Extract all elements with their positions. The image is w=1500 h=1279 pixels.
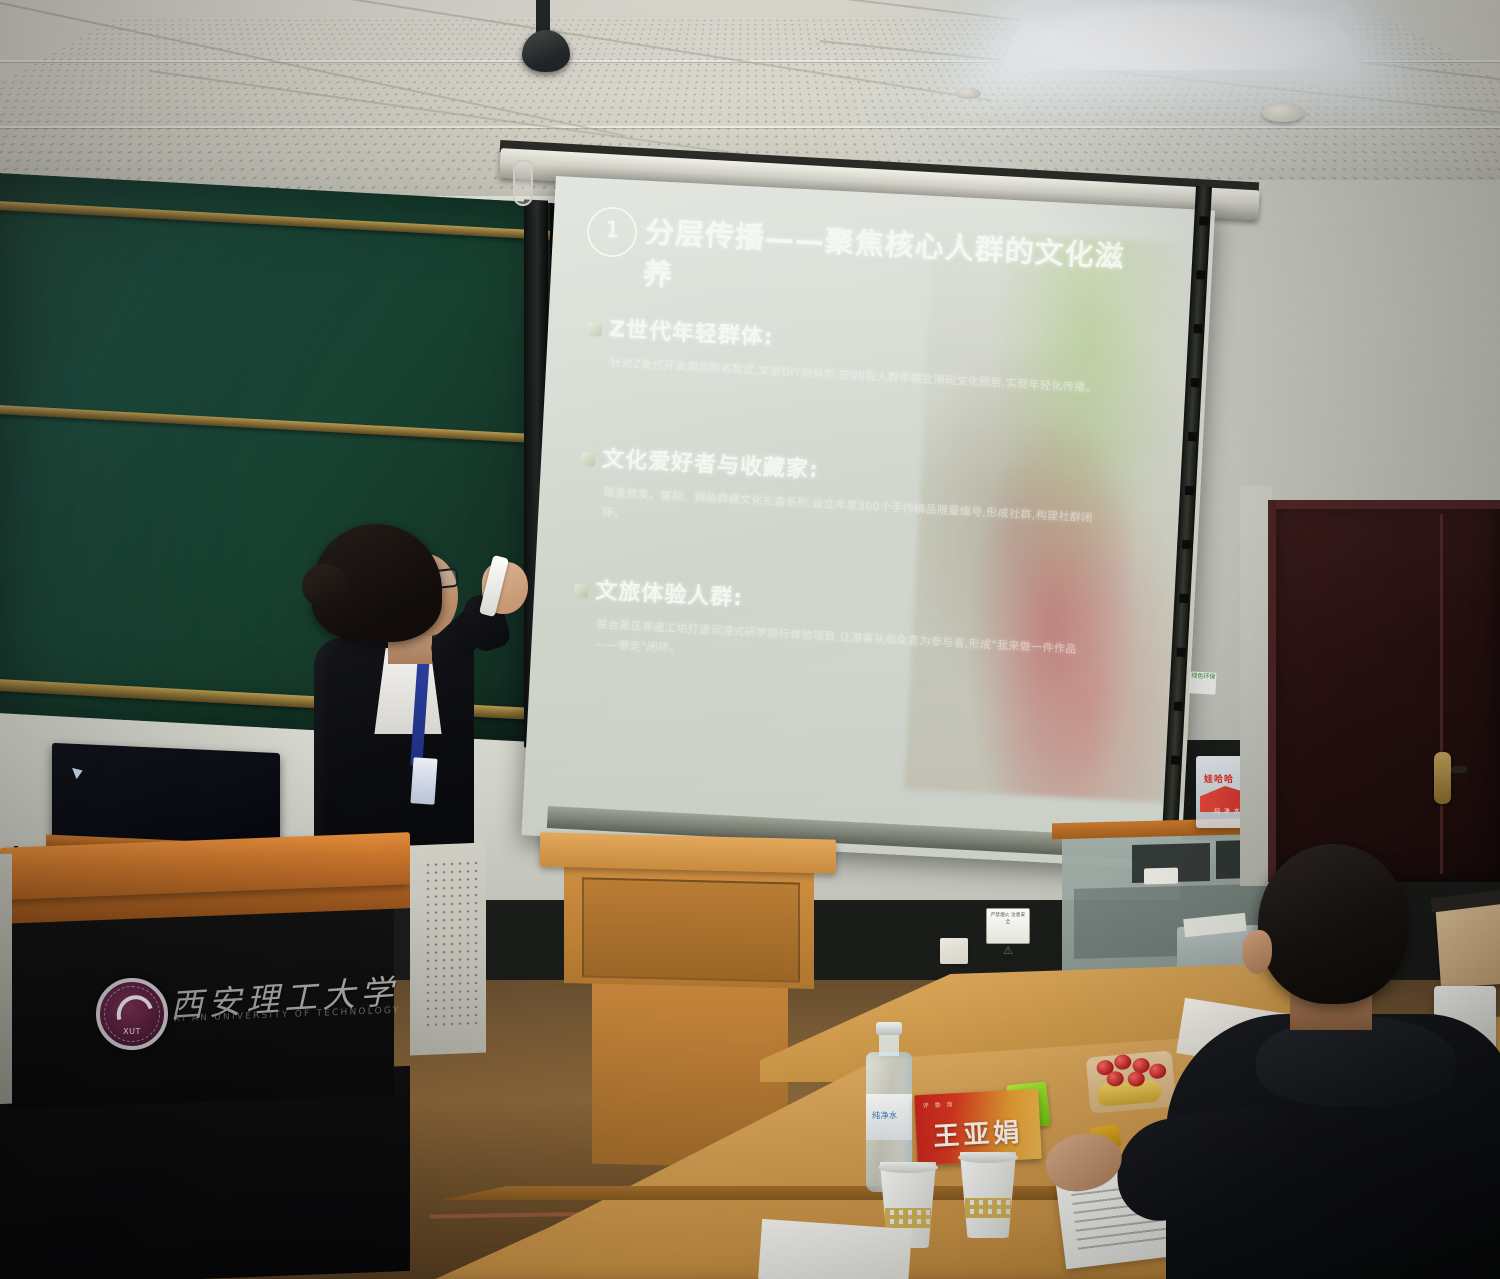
cup-body: [956, 1152, 1020, 1238]
lectern-inner-panel: [582, 877, 800, 982]
cabinet-device: [1144, 868, 1178, 885]
loose-paper: [758, 1219, 912, 1279]
slide-section-2-heading: 文化爱好者与收藏家:: [602, 447, 820, 483]
cup-rim: [878, 1162, 938, 1173]
smoke-detector-icon: [1262, 104, 1304, 122]
lectern-podium: [0, 826, 530, 1279]
water-brand-label: 娃哈哈: [1204, 772, 1234, 785]
door-center-seam: [1440, 514, 1443, 874]
door-top-frame: [1268, 500, 1500, 509]
bullet-square-icon: [581, 452, 596, 467]
water-sub-label: 纯 净 水: [1214, 806, 1241, 815]
bottle-label: 纯净水: [866, 1094, 912, 1140]
cup-pattern-band: [885, 1208, 931, 1228]
classroom-door[interactable]: [1268, 500, 1500, 882]
blackboard-rail: [0, 201, 550, 240]
seated-attendee: [1186, 838, 1500, 1279]
slide-number-badge: 1: [586, 206, 639, 259]
ceiling-light-panel: [1000, 3, 1360, 70]
bullet-square-icon: [574, 584, 589, 599]
bottle-label-text: 纯净水: [872, 1110, 898, 1121]
wall-sign-text: 严禁烟火 注意安全: [990, 913, 1026, 927]
wall-safety-sign: 严禁烟火 注意安全 ⚠: [986, 908, 1030, 944]
ceiling-tile-seam: [0, 126, 1500, 128]
presenter-hair-bun: [302, 564, 348, 608]
podium-left-post: [0, 854, 12, 1105]
placard-name: 王亚娟: [915, 1111, 1041, 1154]
mouse-cursor-icon: [72, 765, 85, 779]
projector-icon: [522, 30, 570, 72]
slide-section-3-heading: 文旅体验人群:: [595, 579, 744, 612]
door-handle-icon[interactable]: [1434, 752, 1451, 804]
presenter-badge: [410, 757, 437, 805]
cup-pattern-band: [965, 1198, 1011, 1218]
bullet-square-icon: [588, 322, 603, 337]
university-crest-icon: XUT: [96, 978, 168, 1050]
fruit-bag: [1086, 1050, 1177, 1113]
classroom-scene: 1 分层传播——聚焦核心人群的文化滋养 Z世代年轻群体: 针对Z世代开发潮流联名…: [0, 0, 1500, 1279]
bottle-cap: [876, 1022, 902, 1035]
door-left-frame: [1268, 500, 1276, 882]
eco-label-icon: 绿色环保: [1189, 671, 1216, 694]
presenter: [296, 520, 546, 860]
door-knob-icon[interactable]: [1451, 766, 1467, 773]
attendee-ear: [1242, 930, 1272, 974]
speaker-grille-icon: [424, 859, 478, 1029]
blackboard-rail: [0, 405, 550, 444]
attendee-head: [1258, 844, 1408, 1004]
ceiling-sensor-icon: [955, 88, 981, 99]
wall-outlet[interactable]: [940, 938, 968, 964]
slide-title: 分层传播——聚焦核心人群的文化滋养: [642, 211, 1126, 320]
warning-icon: ⚠: [987, 944, 1029, 957]
crest-abbreviation: XUT: [100, 1027, 164, 1036]
paper-cup: [956, 1152, 1020, 1238]
lectern-top: [540, 832, 836, 873]
cup-rim: [958, 1152, 1018, 1163]
projection-screen: 1 分层传播——聚焦核心人群的文化滋养 Z世代年轻群体: 针对Z世代开发潮流联名…: [521, 176, 1215, 870]
slide-section-1-heading: Z世代年轻群体:: [608, 317, 774, 351]
screen-pull-cord[interactable]: [513, 160, 533, 206]
